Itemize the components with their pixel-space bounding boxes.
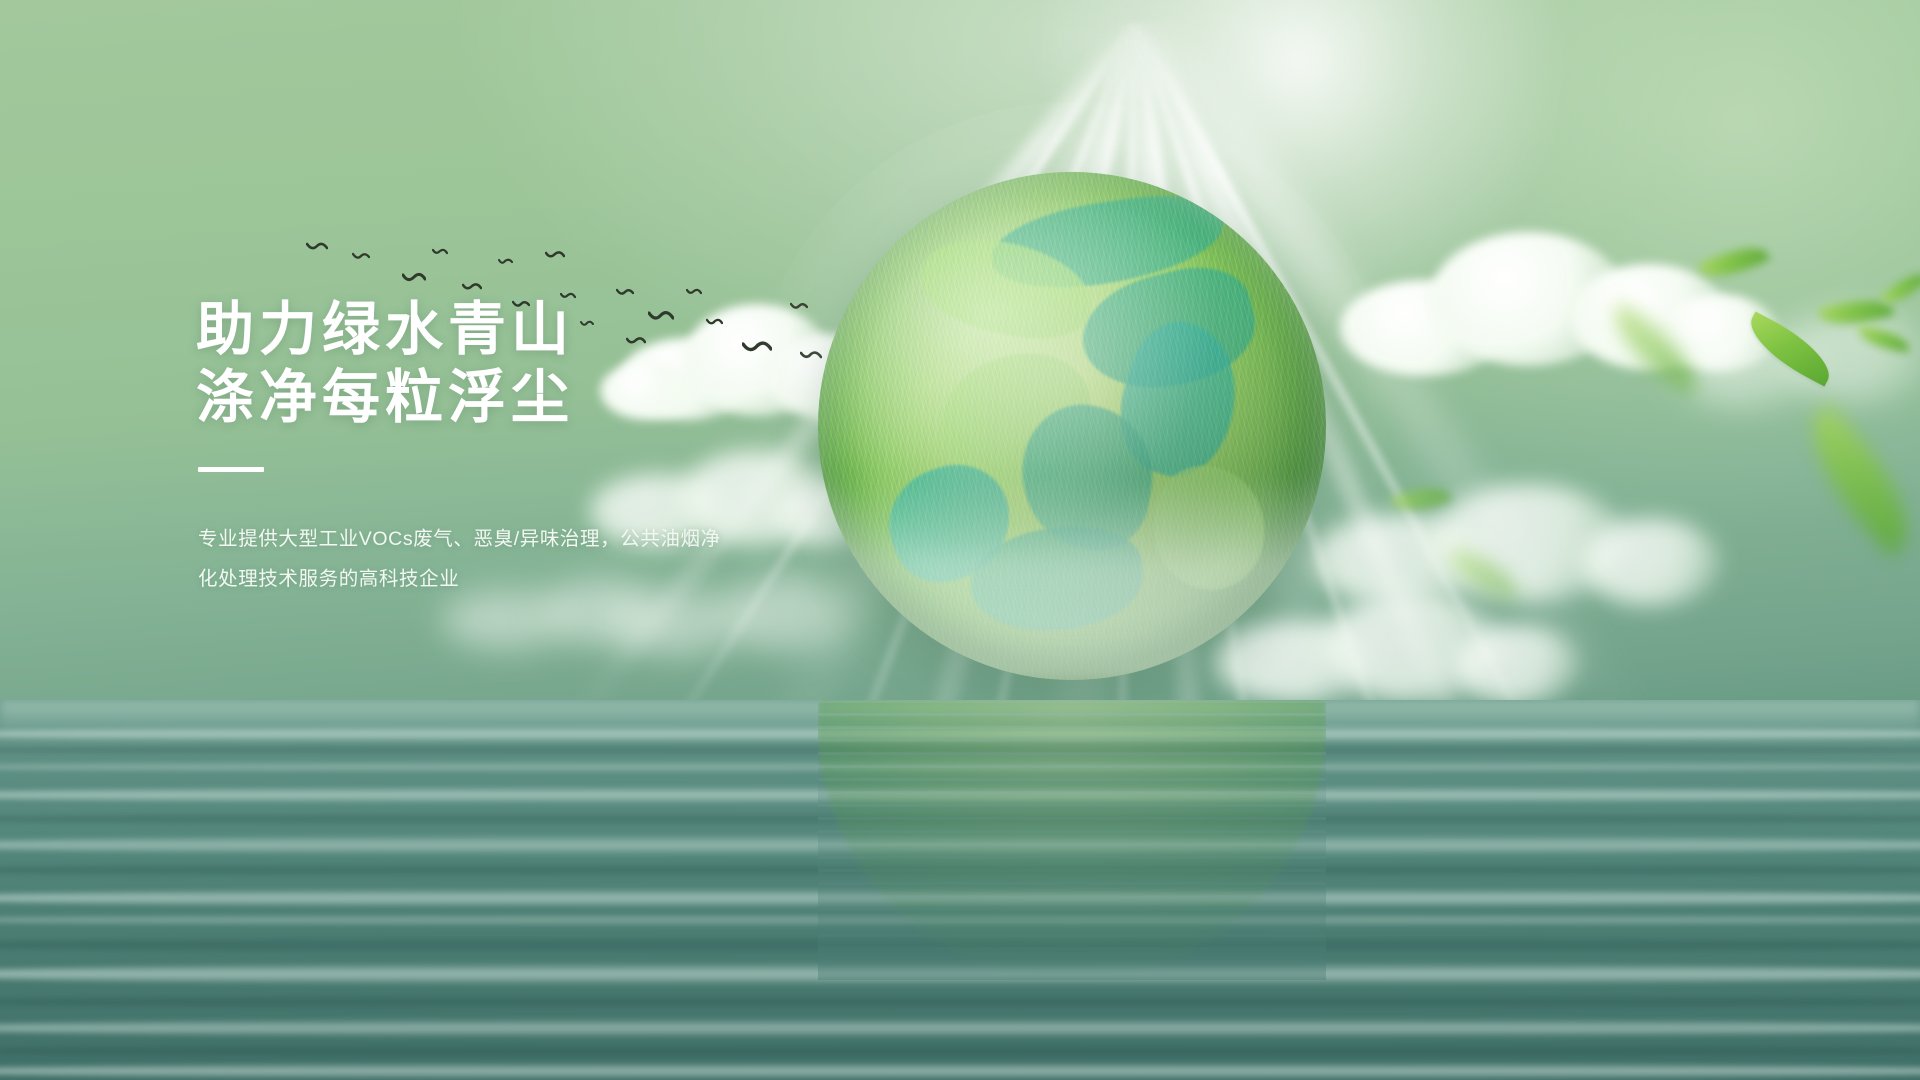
globe-sphere xyxy=(818,172,1326,680)
headline-line-1: 助力绿水青山 xyxy=(196,296,836,364)
subtitle-line-1: 专业提供大型工业VOCs废气、恶臭/异味治理，公共油烟净 xyxy=(198,520,738,560)
bird-icon xyxy=(402,272,426,286)
banner-copy: 助力绿水青山 涤净每粒浮尘 专业提供大型工业VOCs废气、恶臭/异味治理，公共油… xyxy=(196,296,836,600)
bird-icon xyxy=(462,282,482,294)
subtitle-line-2: 化处理技术服务的高科技企业 xyxy=(198,560,738,600)
hero-banner: 助力绿水青山 涤净每粒浮尘 专业提供大型工业VOCs废气、恶臭/异味治理，公共油… xyxy=(0,0,1920,1080)
subtitle-block: 专业提供大型工业VOCs废气、恶臭/异味治理，公共油烟净 化处理技术服务的高科技… xyxy=(198,520,738,600)
bird-icon xyxy=(306,242,328,255)
bird-icon xyxy=(432,248,448,258)
globe-rim-light xyxy=(818,172,1326,680)
globe-reflection xyxy=(818,700,1326,980)
headline-line-2: 涤净每粒浮尘 xyxy=(196,364,836,432)
bird-icon xyxy=(498,258,513,267)
headline-divider xyxy=(198,467,264,472)
bird-icon xyxy=(545,250,565,262)
bird-icon xyxy=(352,252,370,263)
earth-globe xyxy=(818,172,1326,680)
